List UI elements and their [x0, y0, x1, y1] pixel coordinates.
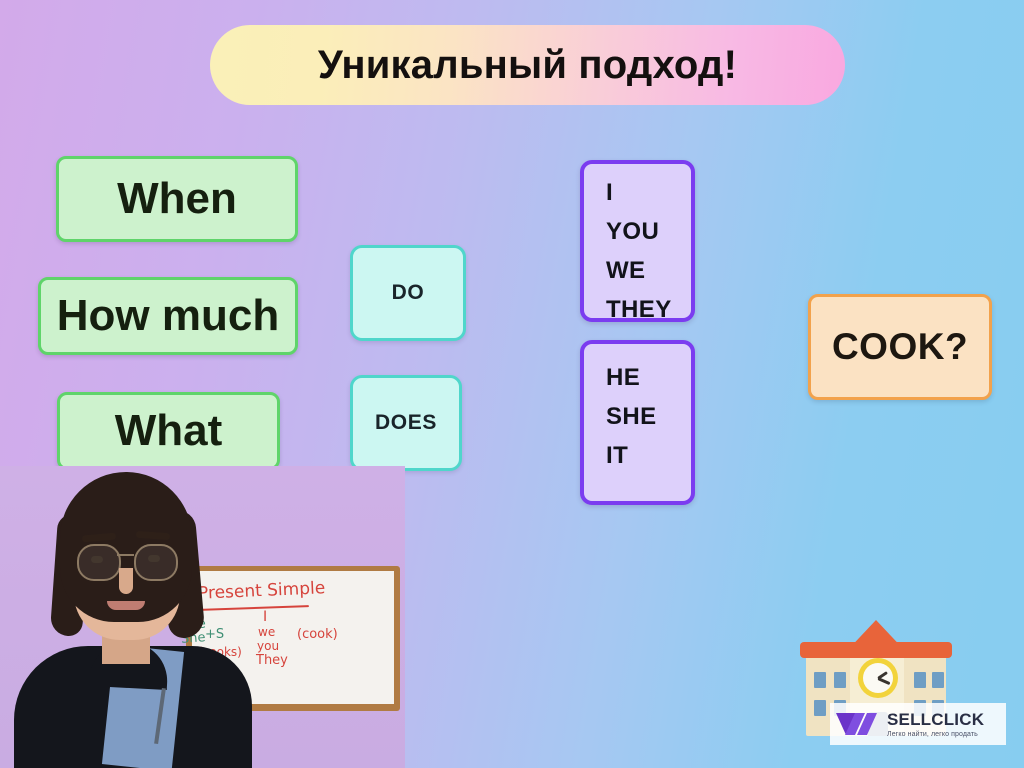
- question-word-card-when[interactable]: When: [56, 156, 298, 242]
- pronoun-item: YOU: [606, 213, 659, 252]
- whiteboard-pronoun-i: I: [263, 609, 267, 625]
- pronoun-item: THEY: [606, 291, 672, 330]
- question-word-label: When: [117, 174, 237, 224]
- whiteboard-pronoun-you: you: [257, 639, 279, 653]
- page-title: Уникальный подход!: [318, 43, 737, 88]
- auxiliary-label: DOES: [375, 411, 437, 435]
- whiteboard-pronoun-we: we: [258, 625, 275, 639]
- pronoun-item: IT: [606, 437, 628, 476]
- pronoun-item: WE: [606, 252, 645, 291]
- pronoun-card-singular[interactable]: HE SHE IT: [580, 340, 695, 505]
- auxiliary-card-do[interactable]: DO: [350, 245, 466, 341]
- school-window: [914, 672, 926, 688]
- school-window: [814, 672, 826, 688]
- school-window: [932, 672, 944, 688]
- sellclick-logo-icon: [836, 711, 880, 737]
- person-nose: [119, 568, 133, 594]
- verb-card-cook[interactable]: COOK?: [808, 294, 992, 400]
- sellclick-text-block: SELLCLICK Легко найти, легко продать: [887, 711, 984, 738]
- pronoun-item: HE: [606, 359, 640, 398]
- auxiliary-card-does[interactable]: DOES: [350, 375, 462, 471]
- whiteboard-pronoun-they: They: [256, 653, 288, 668]
- verb-label: COOK?: [832, 326, 968, 368]
- sellclick-tagline: Легко найти, легко продать: [887, 731, 984, 738]
- glasses-lens-right-icon: [134, 544, 178, 581]
- question-word-card-what[interactable]: What: [57, 392, 280, 470]
- pronoun-card-plural[interactable]: I YOU WE THEY: [580, 160, 695, 322]
- slide-canvas: Уникальный подход! When How much What DO…: [0, 0, 1024, 768]
- title-banner: Уникальный подход!: [210, 25, 845, 105]
- question-word-card-how-much[interactable]: How much: [38, 277, 298, 355]
- person-mouth: [107, 601, 145, 610]
- glasses-bridge-icon: [117, 554, 134, 556]
- auxiliary-label: DO: [392, 281, 425, 305]
- school-window: [834, 672, 846, 688]
- pronoun-item: I: [606, 174, 613, 213]
- sellclick-watermark: SELLCLICK Легко найти, легко продать: [830, 703, 1006, 745]
- presenter-person: [24, 470, 244, 768]
- glasses-lens-left-icon: [77, 544, 121, 581]
- pronoun-item: SHE: [606, 398, 657, 437]
- question-word-label: How much: [57, 291, 279, 341]
- school-gable: [844, 620, 908, 654]
- school-window: [814, 700, 826, 716]
- whiteboard-verb-cook: (cook): [297, 627, 338, 642]
- question-word-label: What: [115, 406, 223, 456]
- sellclick-name: SELLCLICK: [887, 711, 984, 728]
- person-hair-top: [60, 472, 192, 622]
